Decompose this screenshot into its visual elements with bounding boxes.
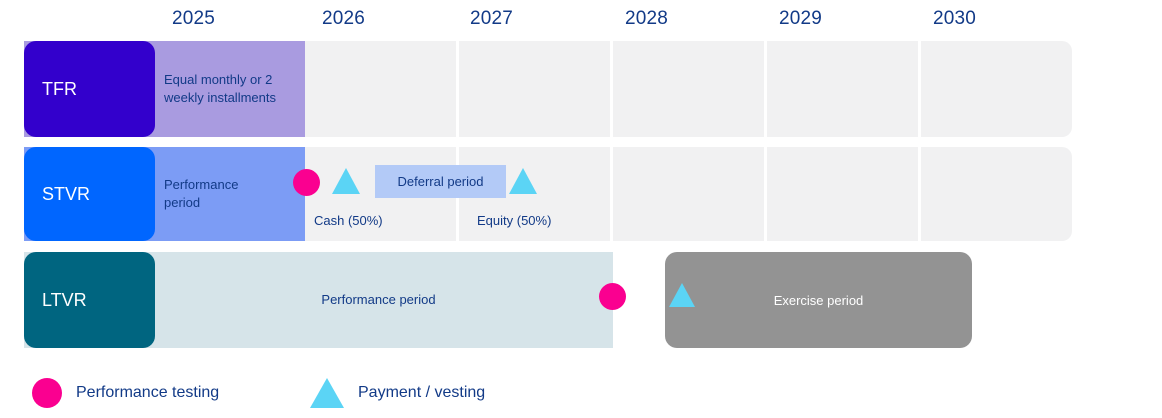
- band-label-tfr: Equal monthly or 2 weekly installments: [164, 71, 276, 106]
- caption-equity: Equity (50%): [477, 213, 551, 228]
- row-label-tfr: TFR: [24, 41, 155, 137]
- caption-cash: Cash (50%): [314, 213, 383, 228]
- block-exercise-period: Exercise period: [665, 252, 972, 348]
- grid-cell-2030: [921, 147, 1072, 241]
- grid-cell-2027: [459, 41, 613, 137]
- payment-vesting-marker: [332, 168, 360, 194]
- payment-vesting-marker: [509, 168, 537, 194]
- grid-cell-2026: [305, 41, 459, 137]
- grid-cell-2030: [921, 41, 1072, 137]
- row-label-text-stvr: STVR: [42, 184, 90, 205]
- payment-vesting-icon: [310, 378, 344, 408]
- year-label-2028: 2028: [625, 8, 668, 30]
- timeline-row-stvr: Performance period Deferral period Cash …: [0, 147, 1162, 241]
- year-axis: 2025 2026 2027 2028 2029 2030: [0, 0, 1162, 36]
- year-label-2027: 2027: [470, 8, 513, 30]
- grid-cell-2029: [767, 147, 921, 241]
- block-label-exercise: Exercise period: [774, 293, 864, 308]
- grid-cell-2028: [613, 147, 767, 241]
- chip-deferral-period: Deferral period: [375, 165, 506, 198]
- row-label-stvr: STVR: [24, 147, 155, 241]
- legend-item-payment-vesting: Payment / vesting: [310, 378, 485, 408]
- year-label-2029: 2029: [779, 8, 822, 30]
- chip-label-deferral: Deferral period: [398, 174, 484, 189]
- performance-testing-icon: [32, 378, 62, 408]
- year-label-2030: 2030: [933, 8, 976, 30]
- row-label-text-ltvr: LTVR: [42, 290, 87, 311]
- grid-cell-2028: [613, 41, 767, 137]
- chart-legend: Performance testing Payment / vesting: [0, 370, 1162, 418]
- band-label-ltvr: Performance period: [321, 291, 435, 309]
- grid-cell-2029: [767, 41, 921, 137]
- timeline-row-ltvr: Performance period Exercise period LTVR: [0, 252, 1162, 348]
- band-label-stvr: Performance period: [164, 176, 238, 211]
- row-label-text-tfr: TFR: [42, 79, 77, 100]
- performance-testing-marker: [293, 169, 320, 196]
- legend-item-performance-testing: Performance testing: [32, 378, 219, 408]
- year-label-2025: 2025: [172, 8, 215, 30]
- timeline-row-tfr: Equal monthly or 2 weekly installments T…: [0, 41, 1162, 137]
- row-label-ltvr: LTVR: [24, 252, 155, 348]
- legend-label-performance-testing: Performance testing: [76, 384, 219, 402]
- year-label-2026: 2026: [322, 8, 365, 30]
- legend-label-payment-vesting: Payment / vesting: [358, 384, 485, 402]
- performance-testing-marker: [599, 283, 626, 310]
- payment-vesting-marker: [669, 283, 695, 307]
